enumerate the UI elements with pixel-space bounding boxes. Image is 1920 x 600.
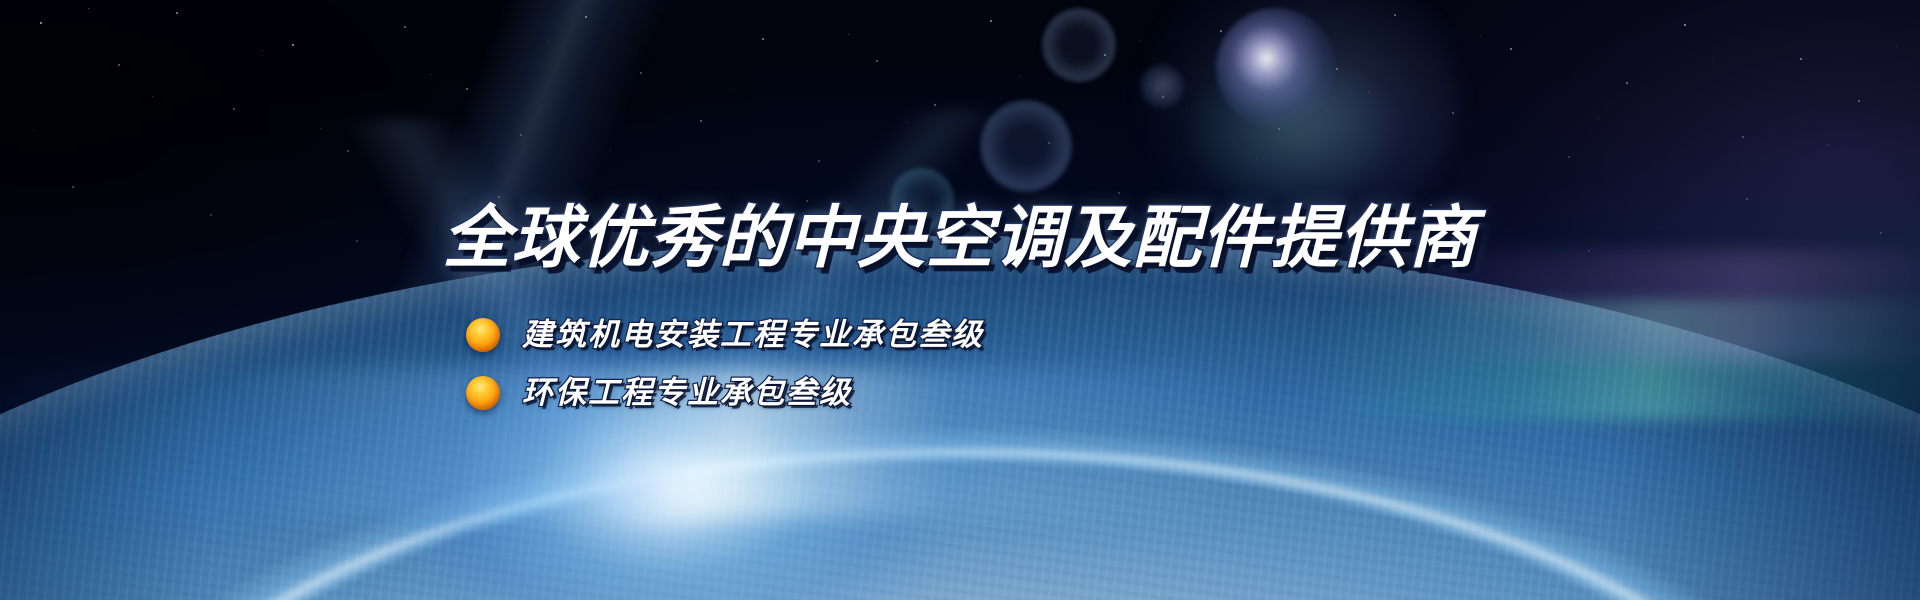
gold-sphere-bullet-icon xyxy=(466,376,500,410)
bullet-item-1: 建筑机电安装工程专业承包叁级 xyxy=(466,308,1366,362)
banner-content: 全球优秀的中央空调及配件提供商 建筑机电安装工程专业承包叁级 环保工程专业承包叁… xyxy=(0,0,1920,600)
gold-sphere-bullet-icon xyxy=(466,318,500,352)
banner-bullet-list: 建筑机电安装工程专业承包叁级 环保工程专业承包叁级 xyxy=(466,308,1366,424)
bullet-item-1-label: 建筑机电安装工程专业承包叁级 xyxy=(522,320,984,351)
bullet-item-2: 环保工程专业承包叁级 xyxy=(466,366,1366,420)
banner-headline: 全球优秀的中央空调及配件提供商 xyxy=(0,205,1920,273)
hero-banner: 全球优秀的中央空调及配件提供商 建筑机电安装工程专业承包叁级 环保工程专业承包叁… xyxy=(0,0,1920,600)
bullet-item-2-label: 环保工程专业承包叁级 xyxy=(522,378,852,409)
